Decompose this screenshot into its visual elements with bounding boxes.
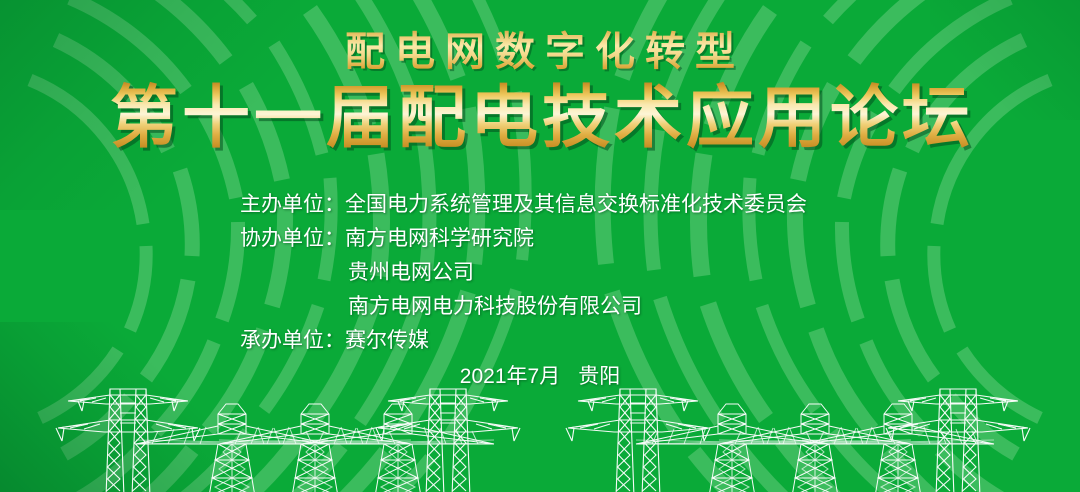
organizer-label: 承办单位： xyxy=(240,324,345,358)
event-city: 贵阳 xyxy=(578,365,620,388)
organizer-value: 贵州电网公司 xyxy=(348,261,474,284)
organizer-row: 承办单位：赛尔传媒 xyxy=(240,324,807,358)
poster-title: 第十一届配电技术应用论坛 xyxy=(0,80,1080,156)
organizer-row: 协办单位：南方电网科学研究院 xyxy=(240,222,807,256)
event-date: 2021年7月 xyxy=(460,365,560,388)
organizer-row: 主办单位：全国电力系统管理及其信息交换标准化技术委员会 xyxy=(240,188,807,222)
tower-tall xyxy=(376,389,520,492)
organizer-row: 贵州电网公司 xyxy=(240,256,807,290)
tower-medium xyxy=(219,404,411,492)
organizer-value: 南方电网电力科技股份有限公司 xyxy=(348,295,642,318)
organizer-value: 全国电力系统管理及其信息交换标准化技术委员会 xyxy=(345,193,807,216)
organizer-value: 赛尔传媒 xyxy=(345,329,429,352)
conference-poster: 配电网数字化转型 第十一届配电技术应用论坛 主办单位：全国电力系统管理及其信息交… xyxy=(0,0,1080,492)
transmission-tower-silhouettes xyxy=(0,382,1080,492)
event-date-location: 2021年7月贵阳 xyxy=(0,362,1080,392)
organizer-row: 南方电网电力科技股份有限公司 xyxy=(240,290,807,324)
tower-tall xyxy=(56,389,200,492)
tower-tall xyxy=(566,389,710,492)
organizer-label: 协办单位： xyxy=(240,222,345,256)
tower-tall xyxy=(886,389,1030,492)
organizer-label: 主办单位： xyxy=(240,188,345,222)
tower-medium xyxy=(302,404,494,492)
organizer-value: 南方电网科学研究院 xyxy=(345,227,534,250)
organizer-list: 主办单位：全国电力系统管理及其信息交换标准化技术委员会 协办单位：南方电网科学研… xyxy=(240,188,807,358)
tower-medium xyxy=(136,404,328,492)
corner-shade-bottom-left xyxy=(0,322,210,492)
tower-medium xyxy=(719,404,911,492)
tower-medium xyxy=(636,404,828,492)
poster-subtitle: 配电网数字化转型 xyxy=(0,26,1080,78)
title-block: 配电网数字化转型 第十一届配电技术应用论坛 xyxy=(0,0,1080,156)
tower-medium xyxy=(802,404,994,492)
